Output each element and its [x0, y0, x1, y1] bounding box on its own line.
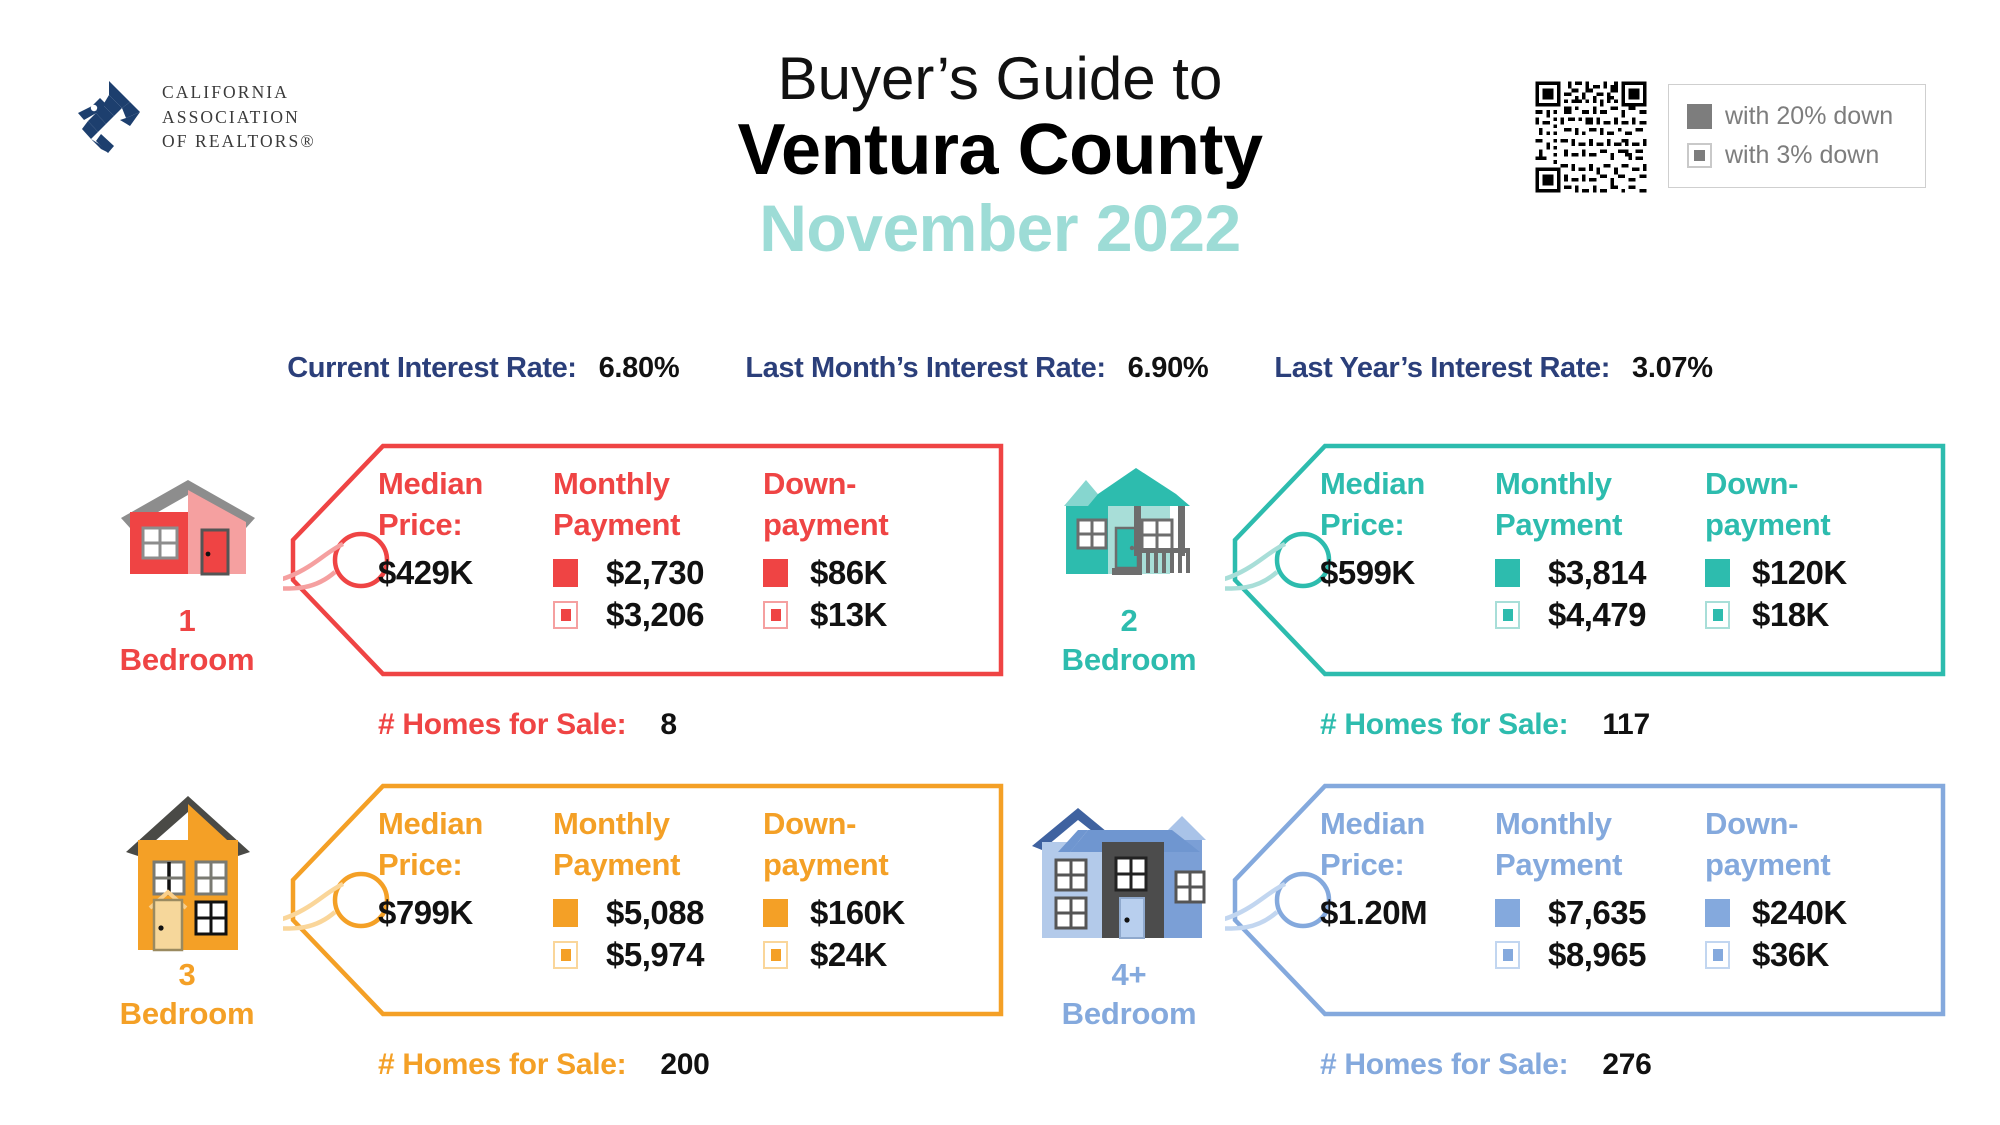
- monthly-20-row-2: $3,814: [1495, 552, 1705, 594]
- monthly-20-value-1: $2,730: [606, 554, 704, 592]
- solid-square-icon: [763, 559, 788, 587]
- monthly-20-row-1: $2,730: [553, 552, 763, 594]
- down-header-line2: payment: [763, 509, 978, 540]
- downpayment-column-3: Down- payment $160K $24K: [763, 808, 978, 976]
- down-20-value-2: $120K: [1752, 554, 1847, 592]
- monthly-header-line2: Payment: [553, 509, 763, 540]
- down-20-row-2: $120K: [1705, 552, 1920, 594]
- monthly-3-row-3: $5,974: [553, 934, 763, 976]
- solid-square-icon: [553, 559, 578, 587]
- rate-last-year-label: Last Year’s Interest Rate:: [1274, 352, 1610, 385]
- bedroom-word-3: Bedroom: [78, 995, 296, 1034]
- bedroom-card-1: 1 Bedroom Median Price: $429K: [78, 440, 1008, 780]
- legend-label-20-down: with 20% down: [1725, 102, 1893, 131]
- median-header-line1: Median: [1320, 466, 1425, 501]
- downpayment-column-1: Down- payment $86K $13K: [763, 468, 978, 636]
- monthly-3-value-1: $3,206: [606, 596, 704, 634]
- down-3-value-2: $18K: [1752, 596, 1829, 634]
- hollow-square-icon: [763, 601, 788, 629]
- median-price-value-2: $599K: [1320, 554, 1495, 592]
- price-tag-content-2: Median Price: $599K Monthly Payment $3,8…: [1320, 468, 1920, 636]
- hollow-square-icon: [1687, 143, 1712, 168]
- down-20-row-1: $86K: [763, 552, 978, 594]
- car-logo-text: CALIFORNIA ASSOCIATION OF REALTORS®: [162, 80, 316, 155]
- down-20-value-4plus: $240K: [1752, 894, 1847, 932]
- monthly-3-row-2: $4,479: [1495, 594, 1705, 636]
- down-payment-legend: with 20% down with 3% down: [1668, 84, 1926, 188]
- homes-for-sale-4plus: # Homes for Sale: 276: [1320, 1048, 1651, 1082]
- solid-square-icon: [1495, 899, 1520, 927]
- hollow-square-icon: [1495, 601, 1520, 629]
- monthly-3-row-1: $3,206: [553, 594, 763, 636]
- legend-label-3-down: with 3% down: [1725, 141, 1879, 170]
- hollow-square-icon: [1705, 941, 1730, 969]
- rate-current: Current Interest Rate: 6.80%: [287, 352, 679, 385]
- median-header-line1: Median: [378, 806, 483, 841]
- logo-line-3: OF REALTORS®: [162, 129, 316, 154]
- median-price-value-4plus: $1.20M: [1320, 894, 1495, 932]
- down-3-row-3: $24K: [763, 934, 978, 976]
- down-header-line2: payment: [1705, 509, 1920, 540]
- legend-item-20-down: with 20% down: [1687, 102, 1925, 131]
- monthly-3-value-2: $4,479: [1548, 596, 1646, 634]
- monthly-column-1: Monthly Payment $2,730 $3,206: [553, 468, 763, 636]
- bedroom-card-2: 2 Bedroom Median Price: $599K: [1020, 440, 1950, 780]
- bedroom-word-2: Bedroom: [1020, 641, 1238, 680]
- homes-for-sale-2: # Homes for Sale: 117: [1320, 708, 1650, 742]
- down-header-line2: payment: [1705, 849, 1920, 880]
- down-3-value-1: $13K: [810, 596, 887, 634]
- median-header-line1: Median: [378, 466, 483, 501]
- house-3-bedroom-icon: [88, 790, 288, 940]
- down-20-value-3: $160K: [810, 894, 905, 932]
- homes-for-sale-label: # Homes for Sale:: [1320, 708, 1568, 742]
- down-20-value-1: $86K: [810, 554, 887, 592]
- interest-rates-row: Current Interest Rate: 6.80% Last Month’…: [0, 352, 2000, 385]
- monthly-header-line1: Monthly: [553, 466, 670, 501]
- homes-for-sale-label: # Homes for Sale:: [1320, 1048, 1568, 1082]
- house-1-bedroom-icon: [88, 450, 288, 600]
- bedroom-card-4plus: 4+ Bedroom Median Price: $1.20M: [1020, 780, 1950, 1120]
- hollow-square-icon: [763, 941, 788, 969]
- homes-for-sale-value-1: 8: [660, 708, 676, 742]
- monthly-20-value-4plus: $7,635: [1548, 894, 1646, 932]
- homes-for-sale-value-2: 117: [1602, 708, 1650, 742]
- bedroom-number-4plus: 4+: [1020, 956, 1238, 995]
- house-2-bedroom-icon: [1030, 450, 1230, 600]
- infographic-root: CALIFORNIA ASSOCIATION OF REALTORS® Buye…: [0, 0, 2000, 1125]
- hollow-square-icon: [553, 941, 578, 969]
- bedroom-label-2: 2 Bedroom: [1020, 602, 1238, 680]
- rate-last-year-value: 3.07%: [1632, 352, 1713, 385]
- down-3-value-4plus: $36K: [1752, 936, 1829, 974]
- rate-current-value: 6.80%: [599, 352, 680, 385]
- down-3-row-2: $18K: [1705, 594, 1920, 636]
- monthly-header-line2: Payment: [553, 849, 763, 880]
- price-tag-content-1: Median Price: $429K Monthly Payment $2,7…: [378, 468, 978, 636]
- monthly-20-row-4plus: $7,635: [1495, 892, 1705, 934]
- car-diamond-logo-icon: [70, 78, 148, 156]
- homes-for-sale-value-3: 200: [660, 1048, 709, 1082]
- car-logo: CALIFORNIA ASSOCIATION OF REALTORS®: [70, 78, 316, 156]
- median-header-line2: Price:: [378, 849, 553, 880]
- homes-for-sale-value-4plus: 276: [1602, 1048, 1651, 1082]
- monthly-3-value-4plus: $8,965: [1548, 936, 1646, 974]
- hollow-square-icon: [553, 601, 578, 629]
- down-3-row-4plus: $36K: [1705, 934, 1920, 976]
- bedroom-card-3: 3 Bedroom Median Price: $799K: [78, 780, 1008, 1120]
- rate-last-month-label: Last Month’s Interest Rate:: [745, 352, 1105, 385]
- solid-square-icon: [1705, 899, 1730, 927]
- monthly-header-line2: Payment: [1495, 849, 1705, 880]
- legend-item-3-down: with 3% down: [1687, 141, 1925, 170]
- rate-current-label: Current Interest Rate:: [287, 352, 576, 385]
- homes-for-sale-3: # Homes for Sale: 200: [378, 1048, 709, 1082]
- price-tag-content-4plus: Median Price: $1.20M Monthly Payment $7,…: [1320, 808, 1920, 976]
- bedroom-label-1: 1 Bedroom: [78, 602, 296, 680]
- down-3-value-3: $24K: [810, 936, 887, 974]
- median-header-line2: Price:: [1320, 509, 1495, 540]
- median-column-2: Median Price: $599K: [1320, 468, 1495, 636]
- down-20-row-4plus: $240K: [1705, 892, 1920, 934]
- median-column-4plus: Median Price: $1.20M: [1320, 808, 1495, 976]
- price-tag-content-3: Median Price: $799K Monthly Payment $5,0…: [378, 808, 978, 976]
- hollow-square-icon: [1495, 941, 1520, 969]
- monthly-3-row-4plus: $8,965: [1495, 934, 1705, 976]
- bedroom-label-3: 3 Bedroom: [78, 956, 296, 1034]
- hollow-square-icon: [1705, 601, 1730, 629]
- title-line-3: November 2022: [0, 191, 2000, 267]
- solid-square-icon: [1495, 559, 1520, 587]
- down-header-line2: payment: [763, 849, 978, 880]
- homes-for-sale-label: # Homes for Sale:: [378, 1048, 626, 1082]
- bedroom-number-2: 2: [1020, 602, 1238, 641]
- down-header-line1: Down-: [1705, 466, 1798, 501]
- homes-for-sale-1: # Homes for Sale: 8: [378, 708, 677, 742]
- bedroom-word-4plus: Bedroom: [1020, 995, 1238, 1034]
- logo-line-2: ASSOCIATION: [162, 105, 316, 130]
- monthly-column-4plus: Monthly Payment $7,635 $8,965: [1495, 808, 1705, 976]
- monthly-header-line1: Monthly: [1495, 806, 1612, 841]
- solid-square-icon: [1687, 104, 1712, 129]
- monthly-20-value-3: $5,088: [606, 894, 704, 932]
- median-header-line2: Price:: [1320, 849, 1495, 880]
- median-column-3: Median Price: $799K: [378, 808, 553, 976]
- bedroom-word-1: Bedroom: [78, 641, 296, 680]
- house-4plus-bedroom-icon: [1030, 790, 1230, 940]
- monthly-header-line1: Monthly: [553, 806, 670, 841]
- bedroom-label-4plus: 4+ Bedroom: [1020, 956, 1238, 1034]
- qr-code-icon[interactable]: [1532, 78, 1650, 196]
- logo-line-1: CALIFORNIA: [162, 80, 316, 105]
- solid-square-icon: [1705, 559, 1730, 587]
- downpayment-column-2: Down- payment $120K $18K: [1705, 468, 1920, 636]
- solid-square-icon: [553, 899, 578, 927]
- monthly-header-line1: Monthly: [1495, 466, 1612, 501]
- monthly-3-value-3: $5,974: [606, 936, 704, 974]
- monthly-column-3: Monthly Payment $5,088 $5,974: [553, 808, 763, 976]
- median-price-value-1: $429K: [378, 554, 553, 592]
- monthly-column-2: Monthly Payment $3,814 $4,479: [1495, 468, 1705, 636]
- rate-last-year: Last Year’s Interest Rate: 3.07%: [1274, 352, 1712, 385]
- down-3-row-1: $13K: [763, 594, 978, 636]
- monthly-20-value-2: $3,814: [1548, 554, 1646, 592]
- rate-last-month-value: 6.90%: [1128, 352, 1209, 385]
- median-price-value-3: $799K: [378, 894, 553, 932]
- homes-for-sale-label: # Homes for Sale:: [378, 708, 626, 742]
- monthly-header-line2: Payment: [1495, 509, 1705, 540]
- median-column-1: Median Price: $429K: [378, 468, 553, 636]
- downpayment-column-4plus: Down- payment $240K $36K: [1705, 808, 1920, 976]
- bedroom-number-1: 1: [78, 602, 296, 641]
- solid-square-icon: [763, 899, 788, 927]
- bedroom-number-3: 3: [78, 956, 296, 995]
- down-20-row-3: $160K: [763, 892, 978, 934]
- rate-last-month: Last Month’s Interest Rate: 6.90%: [745, 352, 1208, 385]
- monthly-20-row-3: $5,088: [553, 892, 763, 934]
- down-header-line1: Down-: [1705, 806, 1798, 841]
- median-header-line1: Median: [1320, 806, 1425, 841]
- down-header-line1: Down-: [763, 466, 856, 501]
- down-header-line1: Down-: [763, 806, 856, 841]
- median-header-line2: Price:: [378, 509, 553, 540]
